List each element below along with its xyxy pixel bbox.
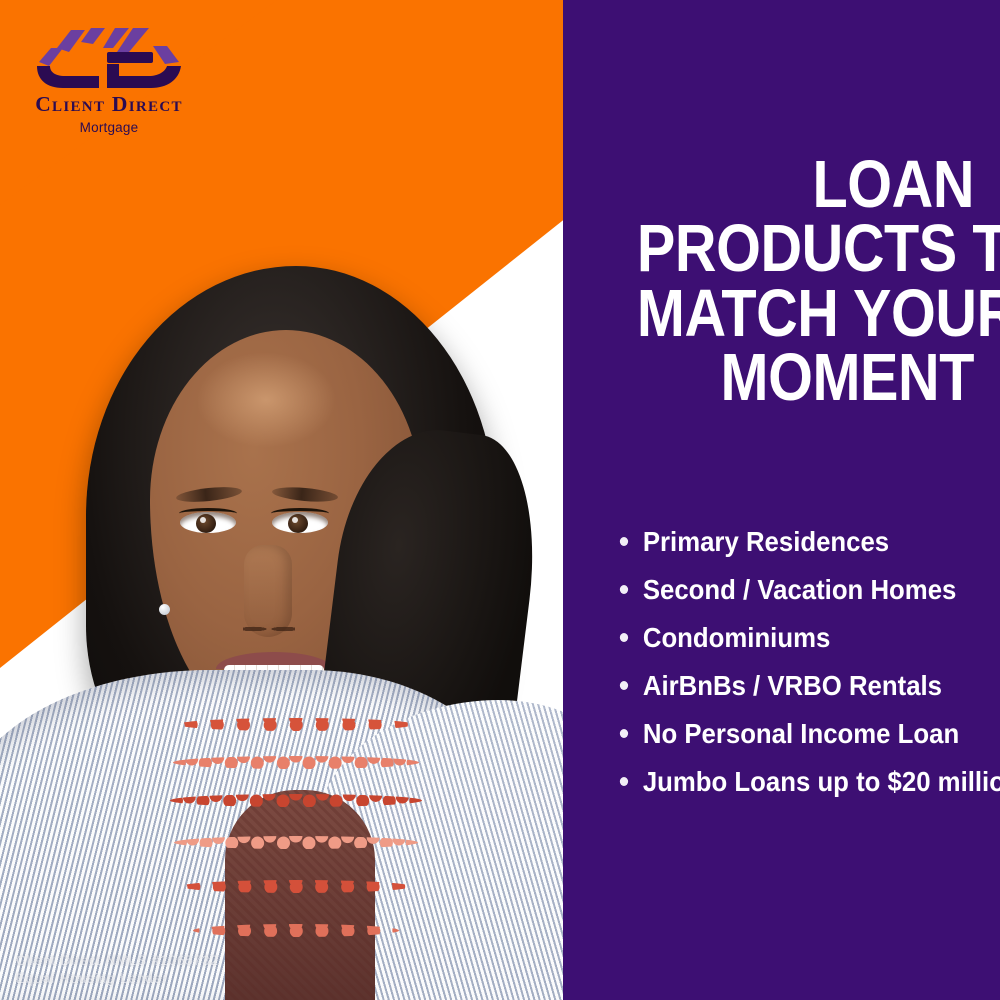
client-direct-cd-monogram-icon bbox=[29, 18, 189, 90]
loan-products-list: Primary Residences Second / Vacation Hom… bbox=[618, 528, 990, 816]
legal-disclaimer: Client Direct NMLS #1065732 Equal Housin… bbox=[16, 952, 219, 988]
portrait-photo bbox=[0, 0, 575, 1000]
list-item: Jumbo Loans up to $20 million bbox=[618, 768, 960, 816]
bullet-label: AirBnBs / VRBO Rentals bbox=[643, 672, 942, 700]
forehead-highlight bbox=[196, 352, 336, 448]
list-item: AirBnBs / VRBO Rentals bbox=[618, 672, 960, 720]
bullet-label: Jumbo Loans up to $20 million bbox=[643, 768, 1000, 796]
equal-housing-line: Equal Housing Lender bbox=[16, 970, 219, 988]
eyelash-right bbox=[271, 508, 329, 519]
marketing-poster: Client Direct Mortgage Loan Products to … bbox=[0, 0, 1000, 1000]
nostrils bbox=[243, 622, 295, 636]
earring bbox=[159, 604, 170, 615]
nmls-line: Client Direct NMLS #1065732 bbox=[16, 952, 219, 970]
logo-tagline: Mortgage bbox=[14, 121, 204, 135]
bullet-label: Condominiums bbox=[643, 624, 830, 652]
bullet-label: Second / Vacation Homes bbox=[643, 576, 957, 604]
headline-line-3: Match Your bbox=[637, 282, 974, 346]
headline-line-4: Moment bbox=[637, 346, 974, 410]
list-item: Second / Vacation Homes bbox=[618, 576, 960, 624]
brand-logo: Client Direct Mortgage bbox=[14, 18, 204, 134]
eyelash-left bbox=[179, 508, 237, 519]
list-item: No Personal Income Loan bbox=[618, 720, 960, 768]
coral-bead-necklace bbox=[170, 690, 420, 990]
headline-line-2: Products to bbox=[637, 217, 974, 281]
bullet-label: No Personal Income Loan bbox=[643, 720, 959, 748]
bullet-label: Primary Residences bbox=[643, 528, 889, 556]
page-title: Loan Products to Match Your Moment bbox=[637, 153, 974, 410]
logo-wordmark: Client Direct bbox=[14, 94, 204, 116]
list-item: Primary Residences bbox=[618, 528, 960, 576]
headline-line-1: Loan bbox=[637, 153, 974, 217]
list-item: Condominiums bbox=[618, 624, 960, 672]
